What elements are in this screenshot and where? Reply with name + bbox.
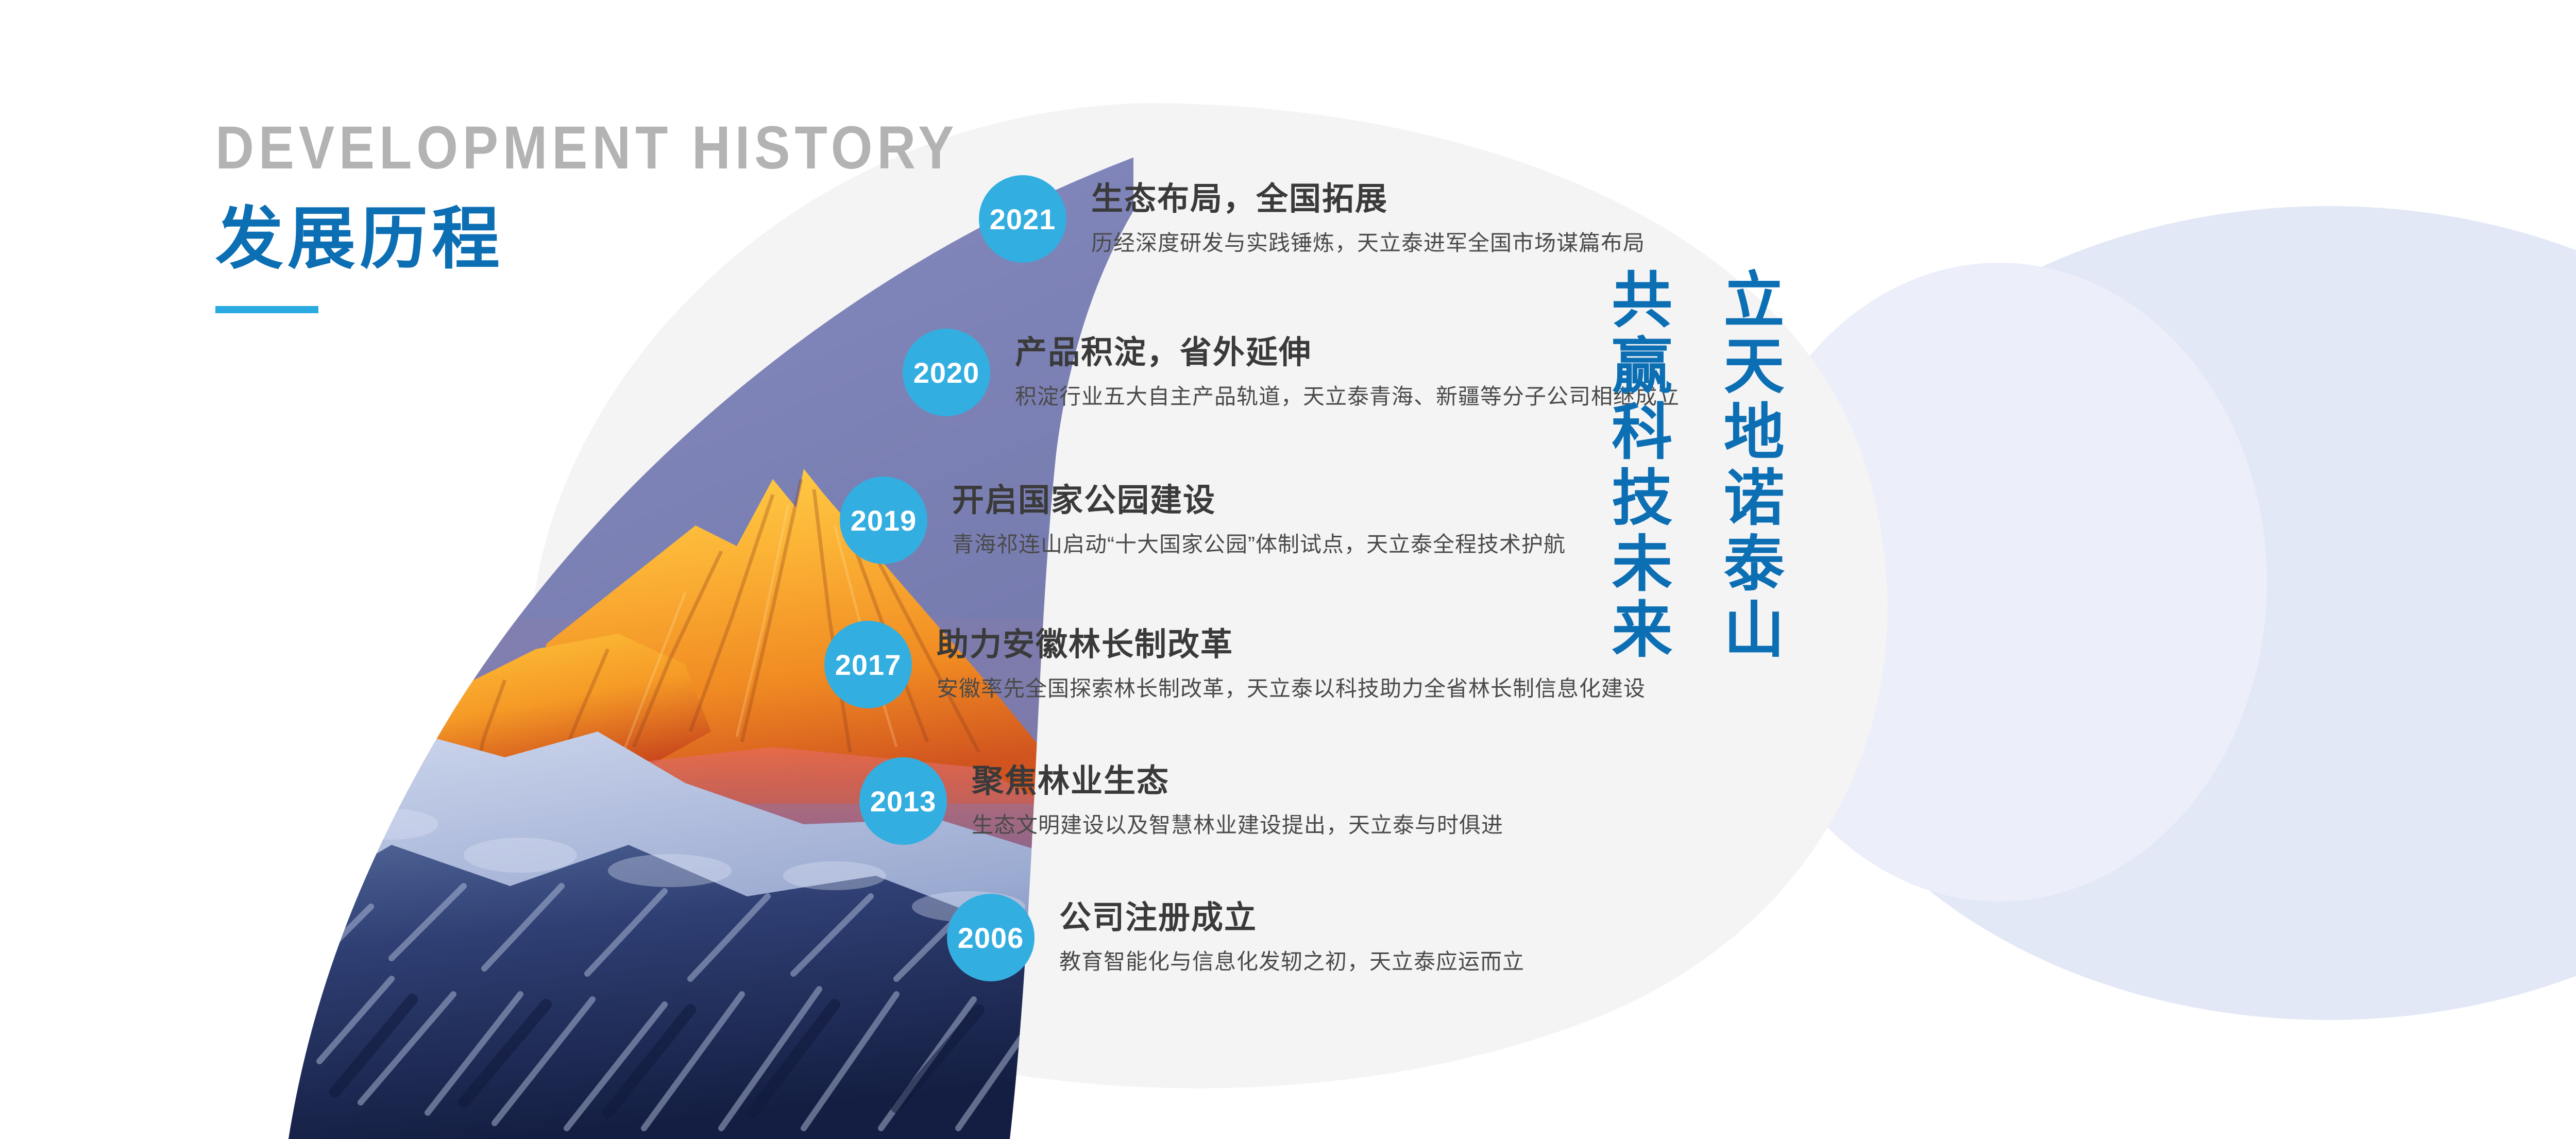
timeline-text: 开启国家公园建设 青海祁连山启动“十大国家公园”体制试点，天立泰全程技术护航: [952, 483, 1566, 558]
timeline-desc: 安徽率先全国探索林长制改革，天立泰以科技助力全省林长制信息化建设: [937, 676, 1646, 702]
year-badge[interactable]: 2006: [947, 894, 1035, 981]
timeline-text: 聚焦林业生态 生态文明建设以及智慧林业建设提出，天立泰与时俱进: [972, 764, 1503, 839]
timeline-item-2021[interactable]: 2021 生态布局，全国拓展 历经深度研发与实践锤炼，天立泰进军全国市场谋篇布局: [979, 175, 1645, 263]
timeline-item-2017[interactable]: 2017 助力安徽林长制改革 安徽率先全国探索林长制改革，天立泰以科技助力全省林…: [824, 621, 1646, 708]
slogan-column-right: 立天地诺泰山: [1708, 268, 1787, 664]
timeline-item-2020[interactable]: 2020 产品积淀，省外延伸 积淀行业五大自主产品轨道，天立泰青海、新疆等分子公…: [903, 329, 1680, 416]
vertical-slogan: 共赢科技未来 立天地诺泰山: [1596, 268, 2576, 664]
timeline-title: 开启国家公园建设: [952, 483, 1566, 518]
timeline-desc: 生态文明建设以及智慧林业建设提出，天立泰与时俱进: [972, 812, 1503, 838]
timeline-text: 产品积淀，省外延伸 积淀行业五大自主产品轨道，天立泰青海、新疆等分子公司相继成立: [1015, 335, 1680, 410]
timeline-text: 生态布局，全国拓展 历经深度研发与实践锤炼，天立泰进军全国市场谋篇布局: [1091, 182, 1645, 257]
year-badge[interactable]: 2021: [979, 175, 1066, 263]
timeline-text: 公司注册成立 教育智能化与信息化发轫之初，天立泰应运而立: [1059, 900, 1524, 975]
year-badge[interactable]: 2013: [859, 757, 947, 845]
year-badge[interactable]: 2020: [903, 329, 990, 416]
slide-canvas: DEVELOPMENT HISTORY 发展历程 2021 生态布局，全国拓展 …: [0, 0, 2576, 1139]
timeline-item-2019[interactable]: 2019 开启国家公园建设 青海祁连山启动“十大国家公园”体制试点，天立泰全程技…: [840, 477, 1566, 564]
timeline-desc: 积淀行业五大自主产品轨道，天立泰青海、新疆等分子公司相继成立: [1015, 384, 1680, 410]
timeline-item-2013[interactable]: 2013 聚焦林业生态 生态文明建设以及智慧林业建设提出，天立泰与时俱进: [859, 757, 1503, 845]
year-badge[interactable]: 2019: [840, 477, 927, 564]
timeline-text: 助力安徽林长制改革 安徽率先全国探索林长制改革，天立泰以科技助力全省林长制信息化…: [937, 627, 1646, 702]
timeline-desc: 青海祁连山启动“十大国家公园”体制试点，天立泰全程技术护航: [952, 532, 1566, 557]
timeline-desc: 教育智能化与信息化发轫之初，天立泰应运而立: [1059, 949, 1524, 975]
timeline-item-2006[interactable]: 2006 公司注册成立 教育智能化与信息化发轫之初，天立泰应运而立: [947, 894, 1524, 981]
timeline-desc: 历经深度研发与实践锤炼，天立泰进军全国市场谋篇布局: [1091, 230, 1645, 256]
timeline-title: 助力安徽林长制改革: [937, 627, 1646, 662]
timeline-title: 聚焦林业生态: [972, 764, 1503, 799]
timeline-title: 公司注册成立: [1059, 900, 1524, 936]
timeline-title: 生态布局，全国拓展: [1091, 182, 1645, 217]
timeline-title: 产品积淀，省外延伸: [1015, 335, 1680, 370]
year-badge[interactable]: 2017: [824, 621, 912, 708]
slogan-column-left: 共赢科技未来: [1596, 268, 1675, 664]
